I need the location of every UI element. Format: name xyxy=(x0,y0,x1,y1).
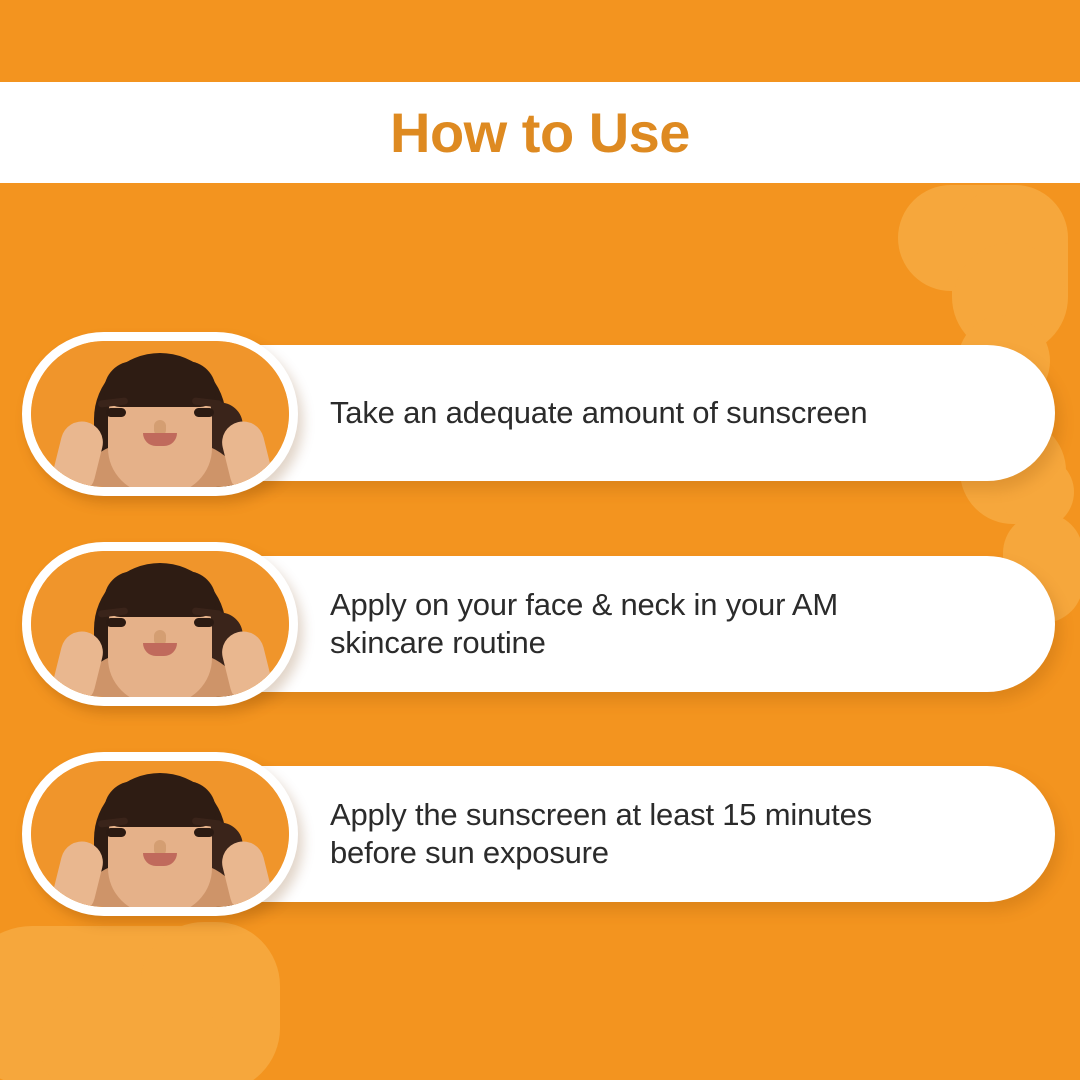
step-2-line-2: skincare routine xyxy=(330,624,985,662)
step-3-photo-inner xyxy=(31,761,289,907)
step-2-line-1: Apply on your face & neck in your AM xyxy=(330,586,985,624)
step-2-text: Apply on your face & neck in your AM ski… xyxy=(330,556,985,692)
step-3-photo xyxy=(22,752,298,916)
portrait-illustration-1 xyxy=(31,341,289,487)
step-3-text: Apply the sunscreen at least 15 minutes … xyxy=(330,766,985,902)
step-2-photo-inner xyxy=(31,551,289,697)
step-1-text: Take an adequate amount of sunscreen xyxy=(330,345,985,481)
step-1-line-1: Take an adequate amount of sunscreen xyxy=(330,394,985,432)
step-1-photo-inner xyxy=(31,341,289,487)
step-3-line-1: Apply the sunscreen at least 15 minutes xyxy=(330,796,985,834)
portrait-illustration-3 xyxy=(31,761,289,907)
step-2-photo xyxy=(22,542,298,706)
step-3-line-2: before sun exposure xyxy=(330,834,985,872)
steps-list: Take an adequate amount of sunscreen xyxy=(0,0,1080,1080)
poster-canvas: How to Use Take an adequate amount of su… xyxy=(0,0,1080,1080)
portrait-illustration-2 xyxy=(31,551,289,697)
step-1-photo xyxy=(22,332,298,496)
